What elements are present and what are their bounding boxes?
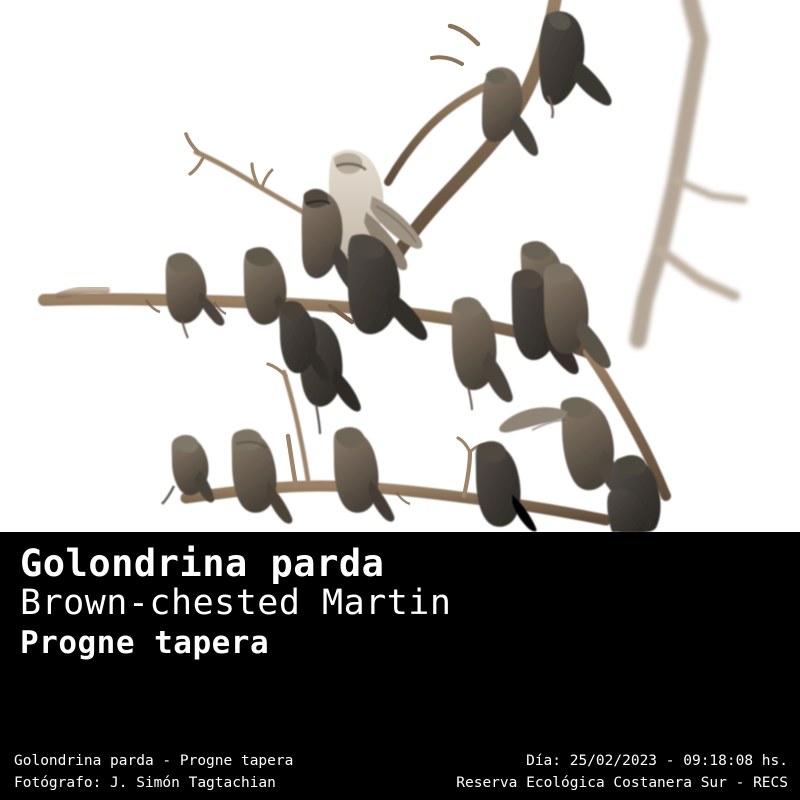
footer-datetime-line: Día: 25/02/2023 - 09:18:08 hs. (456, 750, 788, 772)
common-name-english: Brown-chested Martin (20, 585, 620, 623)
footer-bar: Golondrina parda - Progne tapera Fotógra… (0, 732, 800, 800)
scientific-name: Progne tapera (20, 627, 620, 660)
species-title-block: Golondrina parda Brown-chested Martin Pr… (20, 544, 620, 660)
footer-photographer-line: Fotógrafo: J. Simón Tagtachian (14, 772, 293, 794)
photo-caption-card: Golondrina parda Brown-chested Martin Pr… (0, 0, 800, 800)
footer-left-column: Golondrina parda - Progne tapera Fotógra… (14, 750, 293, 795)
photo-illustration (0, 0, 800, 532)
footer-right-column: Día: 25/02/2023 - 09:18:08 hs. Reserva E… (456, 750, 788, 795)
common-name-spanish: Golondrina parda (20, 544, 620, 584)
bird-photograph (0, 0, 800, 532)
footer-location-line: Reserva Ecológica Costanera Sur - RECS (456, 772, 788, 794)
footer-species-line: Golondrina parda - Progne tapera (14, 750, 293, 772)
caption-band: Golondrina parda Brown-chested Martin Pr… (0, 532, 800, 732)
